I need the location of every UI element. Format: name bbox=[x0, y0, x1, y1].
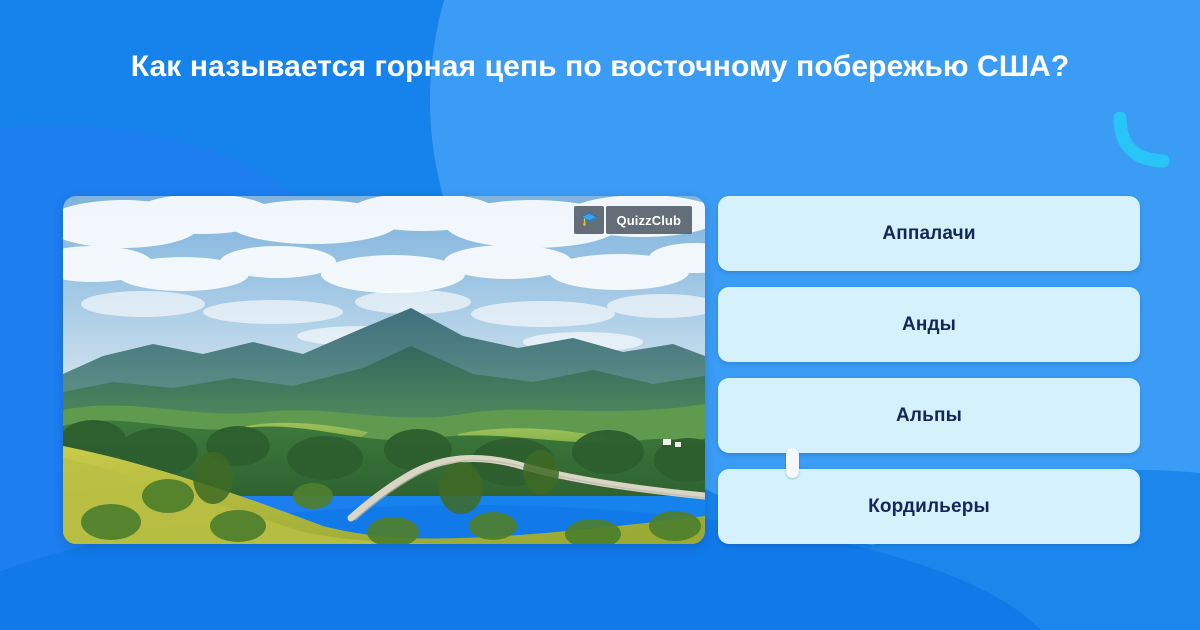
answer-option-1-label: Аппалачи bbox=[882, 223, 975, 245]
question-title: Как называется горная цепь по восточному… bbox=[60, 46, 1140, 88]
answer-option-3-label: Альпы bbox=[896, 405, 962, 427]
answer-option-1[interactable]: Аппалачи bbox=[718, 196, 1140, 271]
cyan-arc-icon bbox=[1113, 112, 1175, 174]
answer-option-4-label: Кордильеры bbox=[868, 496, 990, 518]
answer-option-4[interactable]: Кордильеры bbox=[718, 469, 1140, 544]
answer-option-3[interactable]: Альпы bbox=[718, 378, 1140, 453]
answer-option-2-label: Анды bbox=[902, 314, 956, 336]
mountain-landscape-photo bbox=[63, 196, 705, 544]
graduation-cap-icon bbox=[574, 206, 604, 234]
question-image-card: QuizzClub bbox=[63, 196, 705, 544]
watermark-brand: QuizzClub bbox=[606, 206, 692, 234]
answer-option-2[interactable]: Анды bbox=[718, 287, 1140, 362]
answer-options-list: Аппалачи Анды Альпы Кордильеры bbox=[718, 196, 1140, 544]
watermark: QuizzClub bbox=[574, 206, 692, 234]
quiz-card: Как называется горная цепь по восточному… bbox=[0, 0, 1200, 630]
pointer-thumb[interactable] bbox=[786, 448, 799, 478]
watermark-brand-label: QuizzClub bbox=[606, 213, 692, 228]
